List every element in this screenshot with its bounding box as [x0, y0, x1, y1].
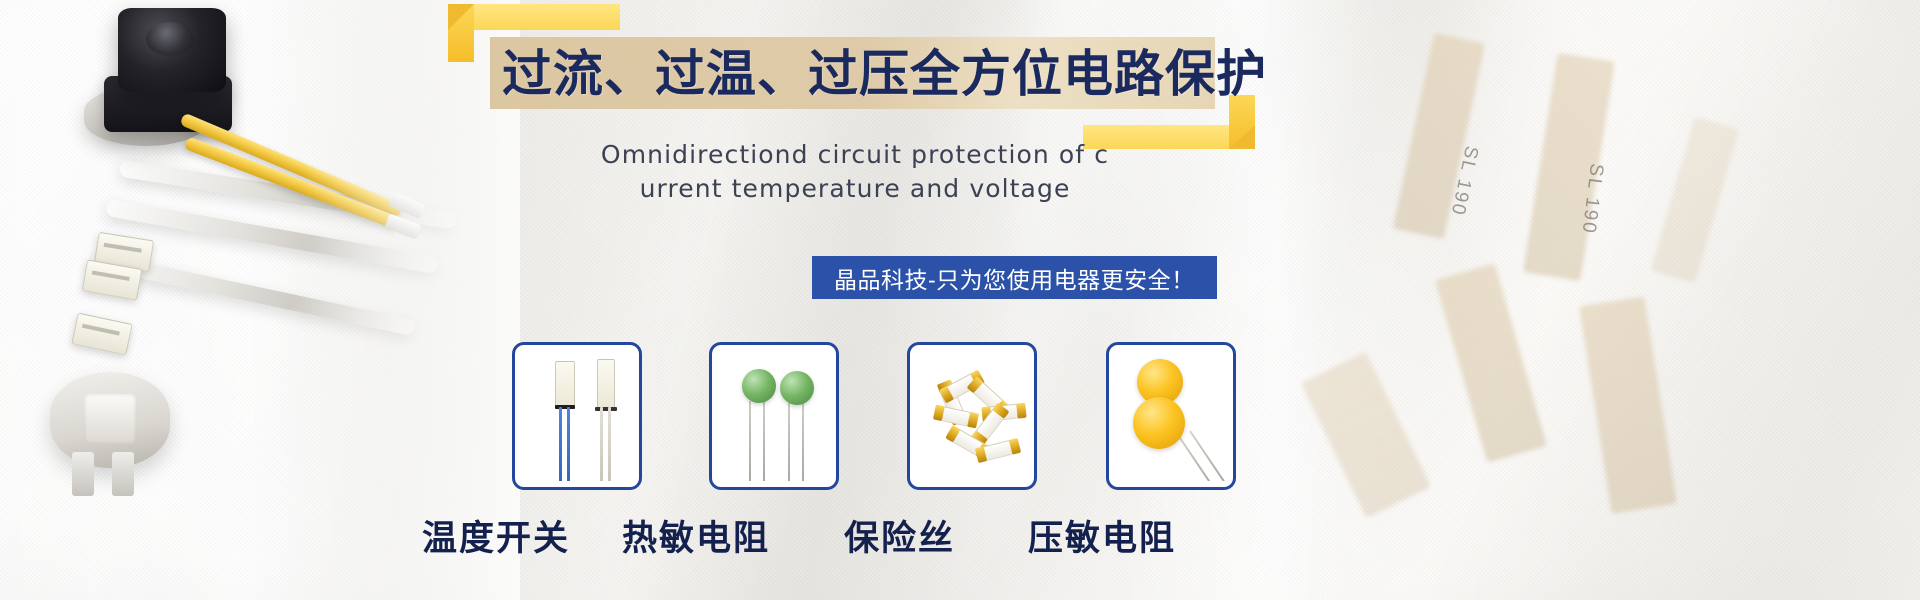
- varistor-disc-icon: [1133, 397, 1185, 449]
- product-card-fuse[interactable]: [907, 342, 1037, 490]
- varistor-lead-icon: [1189, 430, 1225, 481]
- switch-package-icon: [555, 361, 575, 409]
- disc-thermostat-tab-icon: [72, 452, 94, 496]
- product-label-fuse: 保险丝: [844, 510, 955, 561]
- white-lead-icon: [608, 407, 611, 481]
- thermistor-lead-icon: [788, 403, 790, 481]
- bracket-corner-notch: [448, 4, 474, 30]
- switch-package-icon: [597, 359, 615, 409]
- bracket-corner-notch: [1229, 125, 1255, 149]
- page-title: 过流、过温、过压全方位电路保护: [502, 42, 1212, 106]
- blue-lead-icon: [559, 407, 562, 481]
- thermistor-icon: [718, 351, 830, 481]
- product-label-varistor: 压敏电阻: [1028, 510, 1176, 561]
- temperature-switch-icon: [521, 351, 633, 481]
- product-label-thermistor: 热敏电阻: [622, 510, 770, 561]
- thermistor-lead-icon: [763, 401, 765, 481]
- thermistor-disc-icon: [780, 371, 814, 405]
- thermistor-lead-icon: [802, 403, 804, 481]
- subtitle: Omnidirectiond circuit protection of c u…: [560, 138, 1150, 206]
- thermal-chip-icon: [71, 313, 132, 356]
- thermistor-lead-icon: [749, 401, 751, 481]
- subtitle-line-2: urrent temperature and voltage: [560, 172, 1150, 206]
- white-lead-icon: [600, 407, 603, 481]
- product-card-thermistor[interactable]: [709, 342, 839, 490]
- promo-banner: SL 190 SL 190 过流、过温、过压全方位电路保护 Omni: [0, 0, 1920, 600]
- subtitle-line-1: Omnidirectiond circuit protection of c: [560, 138, 1150, 172]
- fuse-body-icon: [974, 407, 1006, 441]
- disc-thermostat-icon: [50, 372, 170, 468]
- fuse-body-icon: [981, 439, 1016, 461]
- product-card-row: [512, 342, 1192, 492]
- product-card-varistor[interactable]: [1106, 342, 1236, 490]
- blue-lead-icon: [567, 407, 570, 481]
- slogan-badge: 晶品科技-只为您使用电器更安全！: [812, 256, 1217, 299]
- product-label-row: 温度开关 热敏电阻 保险丝 压敏电阻: [400, 510, 1240, 570]
- product-label-temperature-switch: 温度开关: [422, 510, 570, 561]
- disc-thermostat-tab-icon: [112, 452, 134, 496]
- fuse-body-icon: [939, 406, 973, 427]
- thermostat-cap-icon: [118, 8, 226, 92]
- thermistor-disc-icon: [742, 369, 776, 403]
- varistor-icon: [1115, 351, 1227, 481]
- switch-base-icon: [595, 407, 617, 411]
- product-card-temperature-switch[interactable]: [512, 342, 642, 490]
- switch-base-icon: [555, 405, 575, 409]
- fuse-icon: [916, 351, 1028, 481]
